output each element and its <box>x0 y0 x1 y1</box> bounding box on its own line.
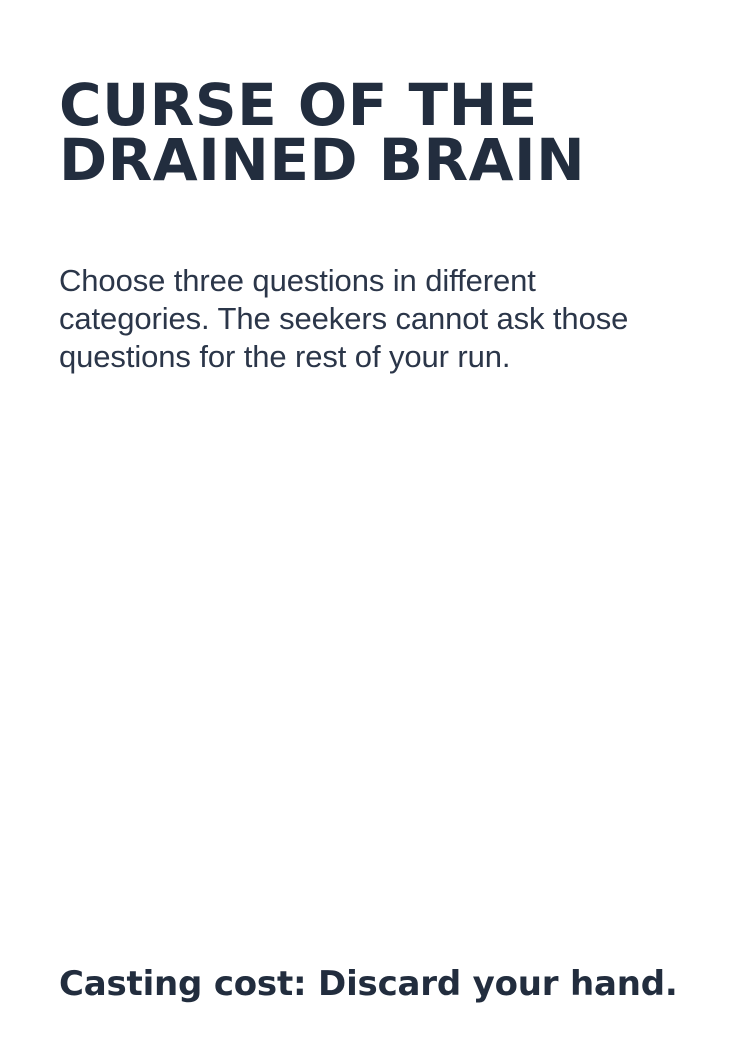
game-card: CURSE OF THE DRAINED BRAIN Choose three … <box>0 0 750 1050</box>
card-casting-cost: Casting cost: Discard your hand. <box>59 963 691 1005</box>
card-title: CURSE OF THE DRAINED BRAIN <box>59 78 679 188</box>
card-art-area <box>59 430 691 950</box>
card-rules-text: Choose three questions in different cate… <box>59 262 654 376</box>
